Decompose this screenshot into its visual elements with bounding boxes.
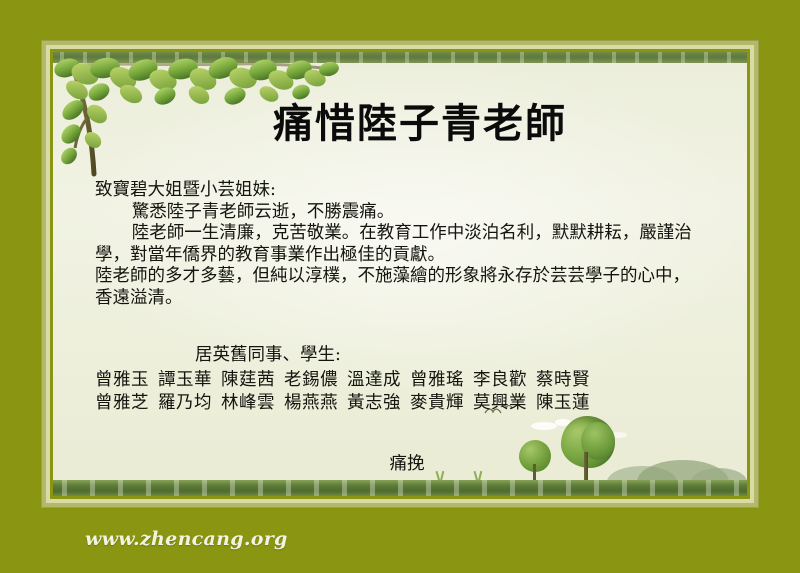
signer-name: 曾雅瑤	[410, 370, 464, 390]
letter-body: 致寶碧大姐暨小芸姐妹: 驚悉陸子青老師云逝，不勝震痛。 陸老師一生清廉，克苦敬業…	[95, 180, 707, 309]
signer-name: 黃志強	[347, 393, 401, 413]
signer-name: 莫興業	[473, 393, 527, 413]
signer-name: 曾雅芝	[95, 393, 149, 413]
site-watermark: www.zhencang.org	[85, 528, 288, 550]
signer-name: 陳莛茜	[221, 370, 275, 390]
salutation: 致寶碧大姐暨小芸姐妹:	[95, 180, 707, 202]
signer-name: 羅乃均	[158, 393, 212, 413]
paragraph-1: 驚悉陸子青老師云逝，不勝震痛。	[95, 202, 707, 224]
memorial-card: 痛惜陸子青老師 致寶碧大姐暨小芸姐妹: 驚悉陸子青老師云逝，不勝震痛。 陸老師一…	[53, 52, 747, 496]
signer-name: 麥貴輝	[410, 393, 464, 413]
signer-name: 李良歡	[473, 370, 527, 390]
signer-name: 林峰雲	[221, 393, 275, 413]
signers-heading: 居英舊同事、學生:	[95, 344, 707, 367]
signer-row: 曾雅芝羅乃均林峰雲楊燕燕黃志強麥貴輝莫興業陳玉蓮	[95, 392, 707, 415]
paragraph-2: 陸老師一生清廉，克苦敬業。在教育工作中淡泊名利，默默耕耘，嚴謹治學，對當年僑界的…	[95, 223, 707, 266]
signer-name: 老錫儂	[284, 370, 338, 390]
signer-name: 譚玉華	[158, 370, 212, 390]
page-background: 痛惜陸子青老師 致寶碧大姐暨小芸姐妹: 驚悉陸子青老師云逝，不勝震痛。 陸老師一…	[0, 0, 800, 573]
paragraph-3: 陸老師的多才多藝，但純以淳樸，不施藻繪的形象將永存於芸芸學子的心中，香遠溢清。	[95, 266, 707, 309]
signers-block: 居英舊同事、學生: 曾雅玉譚玉華陳莛茜老錫儂溫達成曾雅瑤李良歡蔡時賢 曾雅芝羅乃…	[95, 344, 707, 415]
closing-text: 痛挽	[53, 450, 747, 475]
signer-name: 蔡時賢	[536, 370, 590, 390]
signer-name: 曾雅玉	[95, 370, 149, 390]
signer-name: 陳玉蓮	[536, 393, 590, 413]
signer-row: 曾雅玉譚玉華陳莛茜老錫儂溫達成曾雅瑤李良歡蔡時賢	[95, 369, 707, 392]
card-content: 痛惜陸子青老師 致寶碧大姐暨小芸姐妹: 驚悉陸子青老師云逝，不勝震痛。 陸老師一…	[53, 52, 747, 496]
signer-name: 楊燕燕	[284, 393, 338, 413]
page-title: 痛惜陸子青老師	[53, 104, 747, 144]
signer-name: 溫達成	[347, 370, 401, 390]
